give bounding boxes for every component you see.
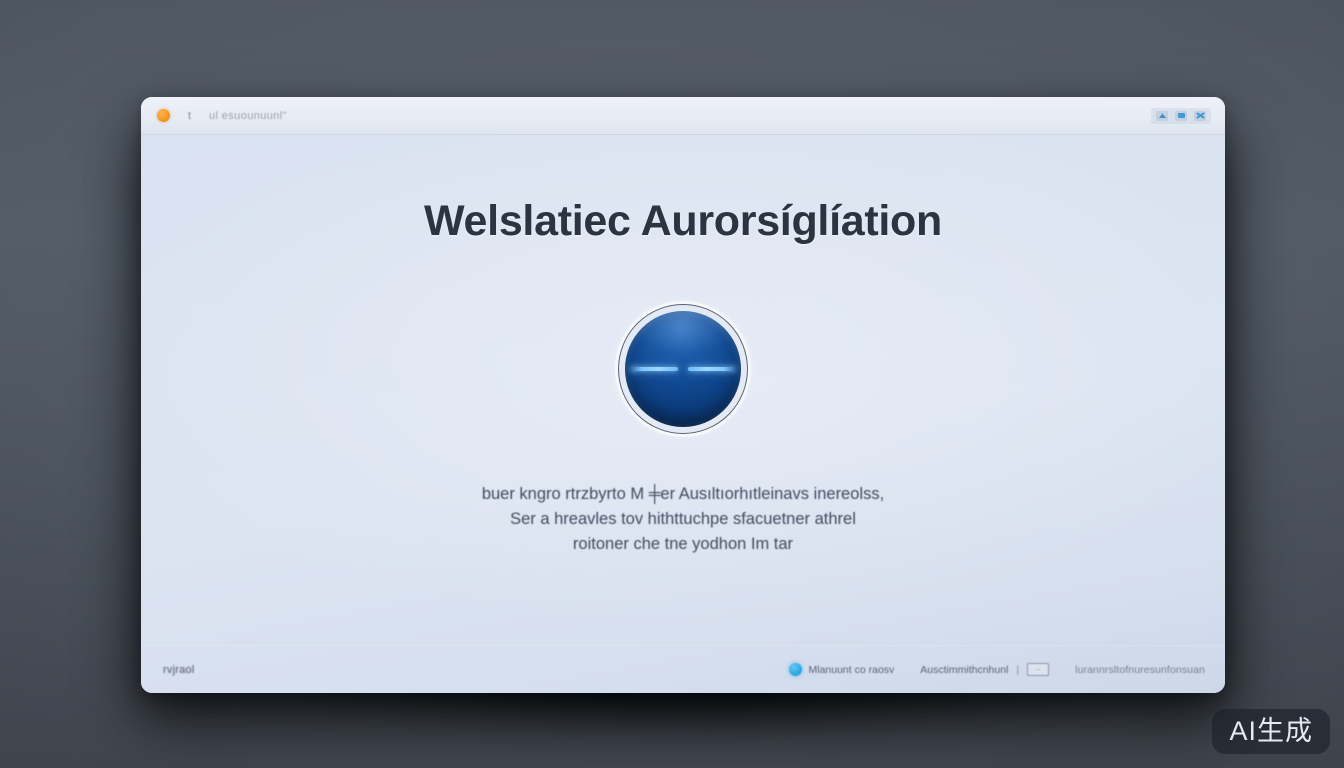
status-dot-orange-icon (157, 109, 170, 122)
window-titlebar[interactable]: t ul esuounuunl" (141, 97, 1225, 135)
window-title-text: t ul esuounuunl" (188, 110, 287, 122)
body-line-1: buer kngro rtrzbyrto M ╪er Ausıltıorhıtl… (482, 482, 884, 507)
logo-dash-left-icon (630, 367, 678, 371)
body-line-3: roitoner che tne yodhon Im tar (482, 532, 884, 557)
status-indicator-label: Mlanuunt co raosv (808, 664, 894, 676)
status-bar: rvjraol Mlanuunt co raosv Ausctimmithcnh… (141, 645, 1225, 693)
ai-generated-watermark: AI生成 (1212, 709, 1330, 754)
app-window: t ul esuounuunl" Welslatiec Aurorsíglíat… (141, 97, 1225, 693)
body-copy: buer kngro rtrzbyrto M ╪er Ausıltıorhıtl… (482, 482, 884, 557)
minimize-icon[interactable] (1156, 111, 1168, 121)
status-far-right-label: lurannrsltofnuresunfonsuan (1075, 664, 1205, 676)
maximize-icon[interactable] (1175, 111, 1187, 121)
status-separator: | (1016, 664, 1019, 676)
status-center-label: Ausctimmithcnhunl (920, 664, 1008, 676)
blue-sphere-logo-icon (618, 304, 748, 434)
window-title-part-1: t (188, 110, 191, 122)
body-line-2: Ser a hreavles tov hithttuchpe sfacuetne… (482, 507, 884, 532)
status-indicator[interactable]: Mlanuunt co raosv (789, 663, 894, 676)
close-icon[interactable] (1194, 111, 1206, 121)
window-content: Welslatiec Aurorsíglíation buer kngro rt… (141, 135, 1225, 693)
status-dot-cyan-icon (789, 663, 802, 676)
status-right-group: Mlanuunt co raosv Ausctimmithcnhunl | ··… (789, 663, 1205, 676)
status-center-group[interactable]: Ausctimmithcnhunl | ·· (920, 663, 1049, 676)
window-title-part-2: ul esuounuunl" (209, 110, 287, 122)
status-badge[interactable]: ·· (1027, 663, 1049, 676)
status-left-label: rvjraol (163, 664, 194, 676)
page-title: Welslatiec Aurorsíglíation (424, 197, 942, 246)
logo-dash-right-icon (688, 367, 736, 371)
window-controls[interactable] (1151, 108, 1211, 124)
